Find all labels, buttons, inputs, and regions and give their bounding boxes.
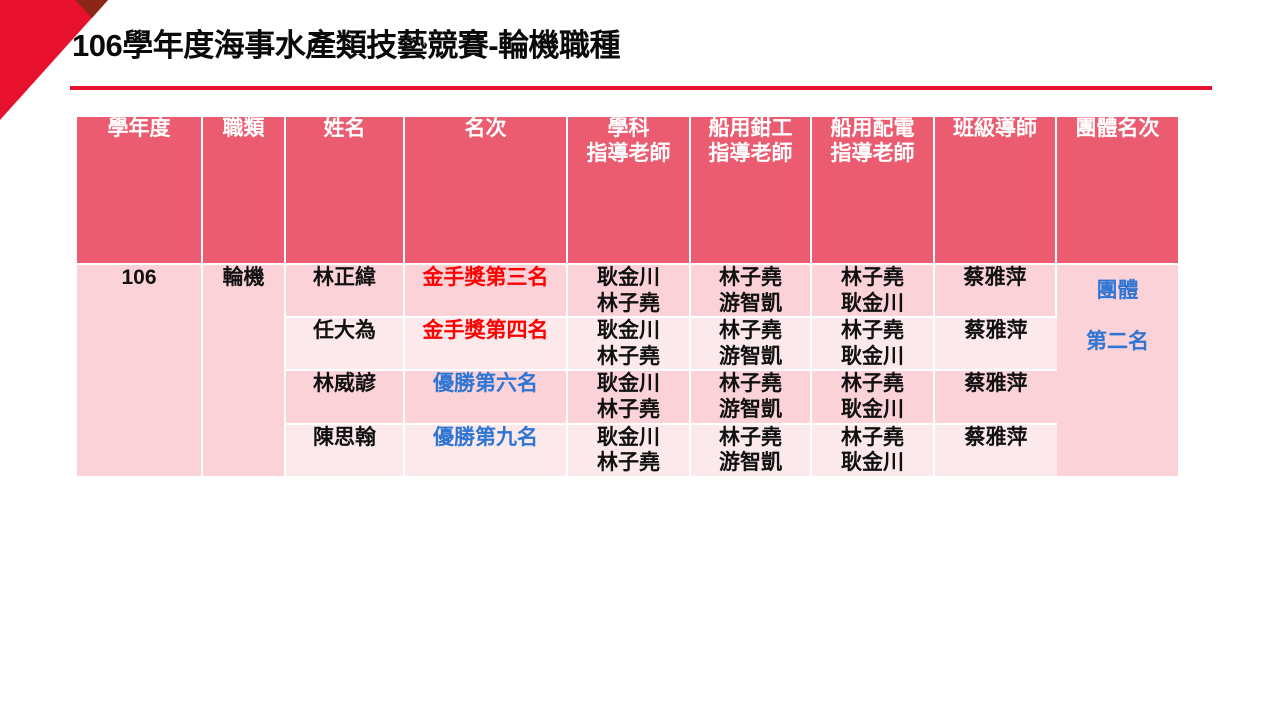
cell-job-type: 輪機 xyxy=(203,265,286,478)
cell-rank: 金手獎第三名 xyxy=(405,265,568,318)
column-header-rank: 名次 xyxy=(405,117,568,265)
teacher-name: 游智凱 xyxy=(691,344,810,370)
teacher-name: 林子堯 xyxy=(812,425,933,451)
results-table-container: 學年度 職類 姓名 名次 學科 指導老師 船用鉗工 指導老師 xyxy=(77,117,1178,478)
cell-rank: 優勝第六名 xyxy=(405,371,568,424)
teacher-name: 林子堯 xyxy=(812,318,933,344)
column-header-rank-line-1: 名次 xyxy=(405,117,566,142)
teacher-name: 林子堯 xyxy=(568,291,689,317)
column-header-type-line-1: 職類 xyxy=(203,117,284,142)
group-rank-line-1: 團體 xyxy=(1057,265,1178,316)
cell-class-tutor: 蔡雅萍 xyxy=(935,425,1057,478)
cell-fitter-teacher: 林子堯 游智凱 xyxy=(691,371,812,424)
column-header-year-line-1: 學年度 xyxy=(77,117,201,142)
cell-student-name: 陳思翰 xyxy=(286,425,405,478)
cell-fitter-teacher: 林子堯 游智凱 xyxy=(691,265,812,318)
cell-student-name: 林威諺 xyxy=(286,371,405,424)
teacher-name: 林子堯 xyxy=(691,318,810,344)
cell-group-rank: 團體 第二名 xyxy=(1057,265,1178,478)
results-table: 學年度 職類 姓名 名次 學科 指導老師 船用鉗工 指導老師 xyxy=(77,117,1178,478)
teacher-name: 耿金川 xyxy=(568,425,689,451)
column-header-electrical-teacher-line-2: 指導老師 xyxy=(812,142,933,167)
column-header-type: 職類 xyxy=(203,117,286,265)
table-row: 106 輪機 林正緯 金手獎第三名 耿金川 林子堯 林子堯 游智凱 林子堯 耿金… xyxy=(77,265,1178,318)
column-header-electrical-teacher-line-1: 船用配電 xyxy=(812,117,933,142)
cell-class-tutor: 蔡雅萍 xyxy=(935,265,1057,318)
teacher-name: 林子堯 xyxy=(568,397,689,423)
column-header-group-rank-line-1: 團體名次 xyxy=(1057,117,1178,142)
teacher-name: 游智凱 xyxy=(691,291,810,317)
teacher-name: 耿金川 xyxy=(812,291,933,317)
cell-electrical-teacher: 林子堯 耿金川 xyxy=(812,318,935,371)
column-header-academic-teacher-line-1: 學科 xyxy=(568,117,689,142)
cell-electrical-teacher: 林子堯 耿金川 xyxy=(812,371,935,424)
cell-rank: 金手獎第四名 xyxy=(405,318,568,371)
column-header-electrical-teacher: 船用配電 指導老師 xyxy=(812,117,935,265)
cell-fitter-teacher: 林子堯 游智凱 xyxy=(691,425,812,478)
column-header-fitter-teacher-line-1: 船用鉗工 xyxy=(691,117,810,142)
teacher-name: 林子堯 xyxy=(691,265,810,291)
corner-triangle-shadow xyxy=(75,0,108,18)
cell-fitter-teacher: 林子堯 游智凱 xyxy=(691,318,812,371)
teacher-name: 耿金川 xyxy=(812,344,933,370)
column-header-fitter-teacher-line-2: 指導老師 xyxy=(691,142,810,167)
cell-student-name: 林正緯 xyxy=(286,265,405,318)
teacher-name: 林子堯 xyxy=(812,265,933,291)
teacher-name: 游智凱 xyxy=(691,397,810,423)
cell-academic-teacher: 耿金川 林子堯 xyxy=(568,425,691,478)
column-header-year: 學年度 xyxy=(77,117,203,265)
column-header-class-tutor: 班級導師 xyxy=(935,117,1057,265)
column-header-group-rank: 團體名次 xyxy=(1057,117,1178,265)
cell-electrical-teacher: 林子堯 耿金川 xyxy=(812,265,935,318)
teacher-name: 林子堯 xyxy=(691,425,810,451)
teacher-name: 林子堯 xyxy=(812,371,933,397)
cell-electrical-teacher: 林子堯 耿金川 xyxy=(812,425,935,478)
cell-student-name: 任大為 xyxy=(286,318,405,371)
cell-class-tutor: 蔡雅萍 xyxy=(935,371,1057,424)
column-header-name: 姓名 xyxy=(286,117,405,265)
column-header-academic-teacher: 學科 指導老師 xyxy=(568,117,691,265)
teacher-name: 林子堯 xyxy=(568,450,689,476)
column-header-academic-teacher-line-2: 指導老師 xyxy=(568,142,689,167)
column-header-fitter-teacher: 船用鉗工 指導老師 xyxy=(691,117,812,265)
table-header-row: 學年度 職類 姓名 名次 學科 指導老師 船用鉗工 指導老師 xyxy=(77,117,1178,265)
title-underline xyxy=(70,86,1212,90)
cell-rank: 優勝第九名 xyxy=(405,425,568,478)
teacher-name: 耿金川 xyxy=(568,371,689,397)
cell-school-year: 106 xyxy=(77,265,203,478)
teacher-name: 游智凱 xyxy=(691,450,810,476)
teacher-name: 耿金川 xyxy=(812,397,933,423)
cell-class-tutor: 蔡雅萍 xyxy=(935,318,1057,371)
column-header-class-tutor-line-1: 班級導師 xyxy=(935,117,1055,142)
teacher-name: 耿金川 xyxy=(568,318,689,344)
cell-academic-teacher: 耿金川 林子堯 xyxy=(568,265,691,318)
column-header-name-line-1: 姓名 xyxy=(286,117,403,142)
teacher-name: 林子堯 xyxy=(568,344,689,370)
teacher-name: 耿金川 xyxy=(812,450,933,476)
page-title: 106學年度海事水產類技藝競賽-輪機職種 xyxy=(72,28,620,64)
teacher-name: 耿金川 xyxy=(568,265,689,291)
teacher-name: 林子堯 xyxy=(691,371,810,397)
group-rank-line-2: 第二名 xyxy=(1057,316,1178,367)
cell-academic-teacher: 耿金川 林子堯 xyxy=(568,318,691,371)
cell-academic-teacher: 耿金川 林子堯 xyxy=(568,371,691,424)
